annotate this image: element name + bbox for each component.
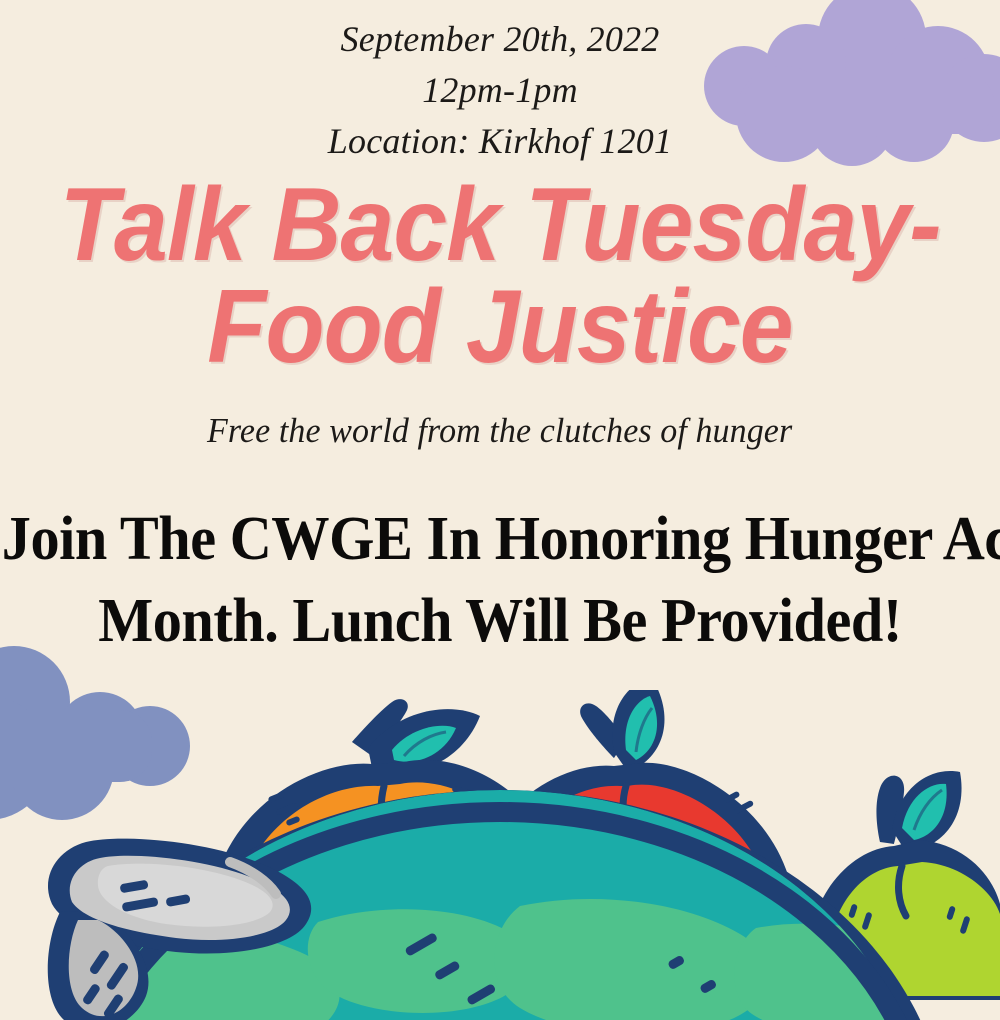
event-details: September 20th, 2022 12pm-1pm Location: … [328, 14, 672, 167]
event-time: 12pm-1pm [328, 65, 672, 116]
headline-line-2: Food Justice [35, 277, 965, 379]
tagline: Free the world from the clutches of hung… [207, 411, 792, 451]
headline-line-1: Talk Back Tuesday- [35, 175, 965, 277]
body-copy-line-2: Month. Lunch Will Be Provided! [2, 581, 998, 663]
event-date: September 20th, 2022 [328, 14, 672, 65]
page-title: Talk Back Tuesday- Food Justice [35, 175, 965, 379]
event-location: Location: Kirkhof 1201 [328, 116, 672, 167]
poster-canvas: September 20th, 2022 12pm-1pm Location: … [0, 0, 1000, 1020]
body-copy: Join The CWGE In Honoring Hunger Action … [0, 499, 1000, 663]
body-copy-line-1: Join The CWGE In Honoring Hunger Action [2, 499, 998, 581]
poster-text-layer: September 20th, 2022 12pm-1pm Location: … [0, 0, 1000, 1020]
